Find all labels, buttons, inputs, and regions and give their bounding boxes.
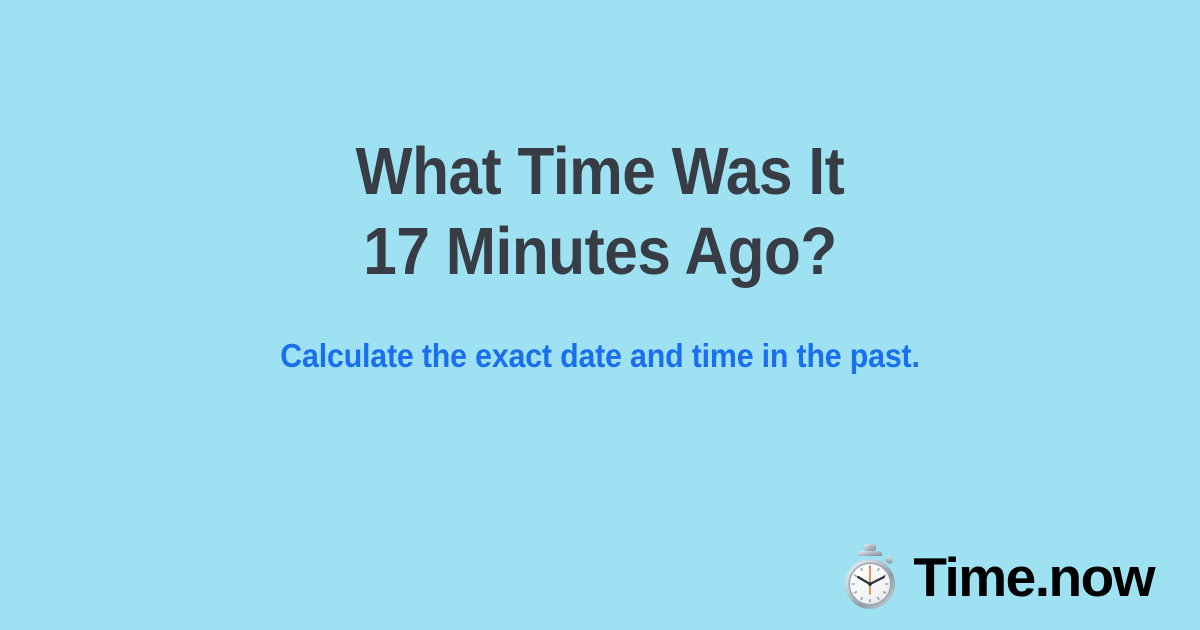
page-title-line-2: 17 Minutes Ago? — [60, 212, 1140, 292]
page-subtitle: Calculate the exact date and time in the… — [48, 336, 1152, 376]
page-title-line-1: What Time Was It — [60, 132, 1140, 212]
brand-name: Time.now — [913, 544, 1154, 610]
brand-logo[interactable]: Time.now — [841, 542, 1154, 612]
share-card: What Time Was It 17 Minutes Ago? Calcula… — [0, 0, 1200, 630]
hero-heading-block: What Time Was It 17 Minutes Ago? — [0, 132, 1200, 292]
stopwatch-icon — [841, 542, 899, 612]
hero-subtitle-block: Calculate the exact date and time in the… — [0, 336, 1200, 376]
page-title: What Time Was It 17 Minutes Ago? — [60, 132, 1140, 292]
